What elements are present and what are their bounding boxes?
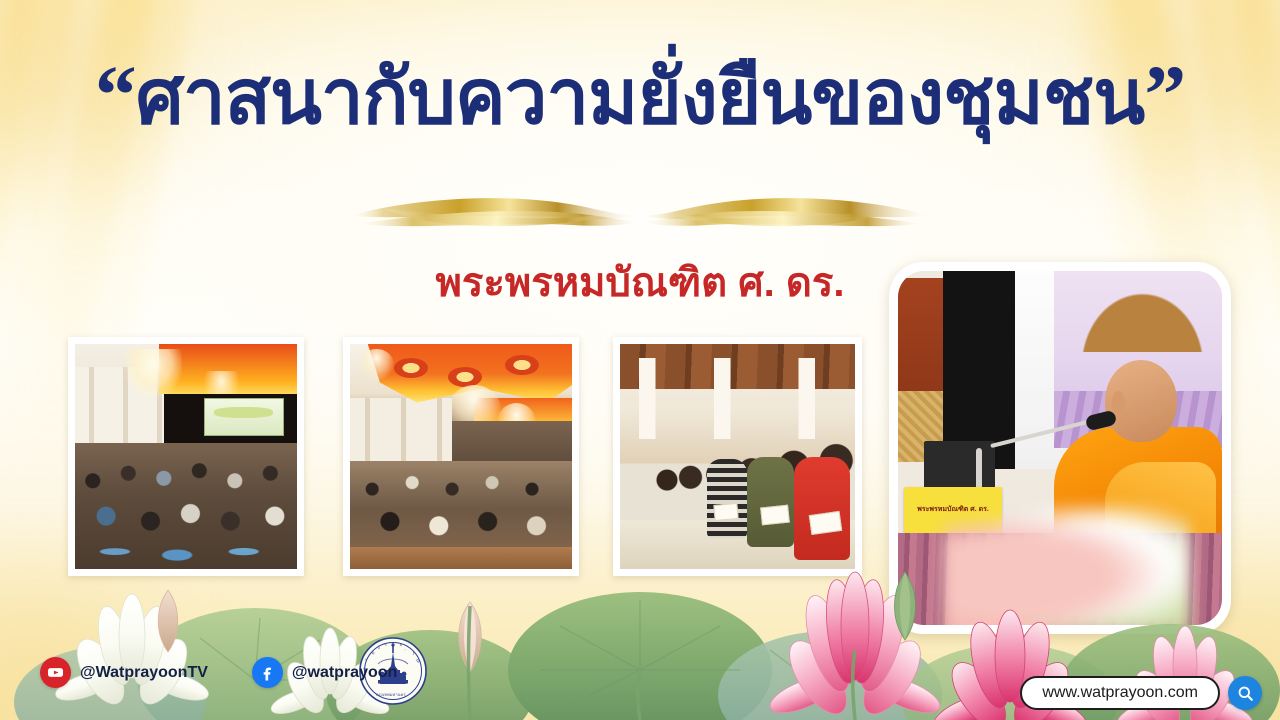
svg-text:ะ: ะ: [392, 641, 394, 646]
gold-ribbon-ornament-icon: [340, 186, 940, 240]
social-youtube[interactable]: @WatprayoonTV: [40, 657, 208, 688]
page-title: “ศาสนากับความยั่งยืนของชุมชน”: [0, 52, 1280, 140]
title-close-quote: ”: [1144, 49, 1185, 142]
title-open-quote: “: [95, 49, 136, 142]
facebook-handle: @watprayoon: [292, 664, 397, 682]
poster-canvas: “ศาสนากับความยั่งยืนของชุมชน”: [0, 0, 1280, 720]
search-icon[interactable]: [1228, 676, 1262, 710]
social-links: @WatprayoonTV @watprayoon: [40, 657, 397, 688]
website-bar: www.watprayoon.com: [1020, 676, 1262, 710]
youtube-icon[interactable]: [40, 657, 71, 688]
youtube-handle: @WatprayoonTV: [80, 664, 208, 682]
social-facebook[interactable]: @watprayoon: [252, 657, 397, 688]
facebook-icon[interactable]: [252, 657, 283, 688]
title-text: ศาสนากับความยั่งยืนของชุมชน: [136, 55, 1145, 140]
website-url[interactable]: www.watprayoon.com: [1020, 676, 1220, 710]
